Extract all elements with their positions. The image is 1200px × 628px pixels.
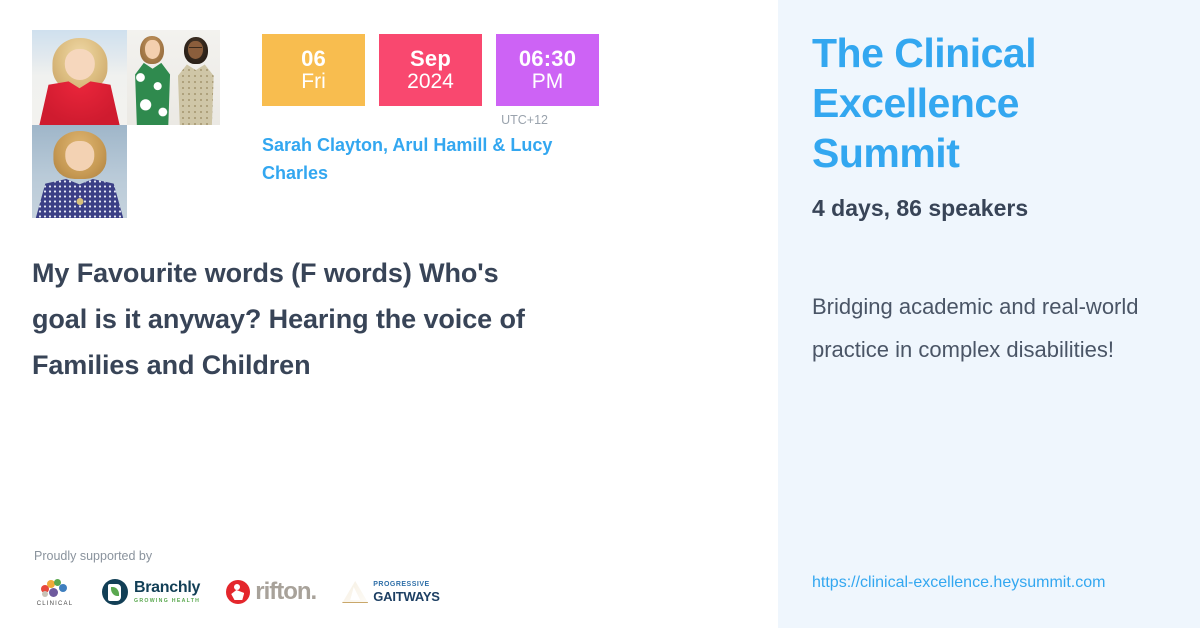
- gaitways-line-one: PROGRESSIVE: [373, 581, 440, 588]
- date-time-badges: 06 Fri Sep 2024 06:30 PM: [262, 34, 746, 106]
- face-shape: [145, 40, 160, 59]
- speaker-photo-arul-hamill-and-lucy-charles: [127, 30, 220, 125]
- speaker-names: Sarah Clayton, Arul Hamill & Lucy Charle…: [262, 132, 607, 188]
- sponsors-label: Proudly supported by: [34, 549, 440, 563]
- gaitways-line-two: GAITWAYS: [373, 590, 440, 603]
- sponsors-section: Proudly supported by CLINICAL Branchly G…: [34, 549, 440, 610]
- time-badge: 06:30 PM: [496, 34, 599, 106]
- rifton-person-icon: [226, 580, 250, 604]
- month-year: 2024: [407, 71, 454, 92]
- speaker-photo-sarah-clayton: [32, 30, 127, 125]
- summit-info-panel: The Clinical Excellence Summit 4 days, 8…: [778, 0, 1200, 628]
- glasses-shape: [189, 47, 202, 51]
- branchly-tagline: GROWING HEALTH: [134, 599, 200, 604]
- sponsor-logo-rifton: rifton.: [226, 574, 316, 610]
- summit-subtitle: 4 days, 86 speakers: [812, 195, 1170, 222]
- timezone-label: UTC+12: [262, 113, 592, 127]
- photo-grid-empty-cell: [127, 125, 220, 218]
- event-details-panel: 06 Fri Sep 2024 06:30 PM UTC+12 Sarah Cl…: [0, 0, 778, 628]
- event-promo-card: 06 Fri Sep 2024 06:30 PM UTC+12 Sarah Cl…: [0, 0, 1200, 628]
- clinical-emblem-icon: [40, 578, 70, 599]
- face-shape: [64, 49, 94, 80]
- clinical-caption: CLINICAL: [37, 601, 74, 607]
- sponsor-logo-clinical: CLINICAL: [34, 574, 76, 610]
- rifton-wordmark: rifton.: [255, 578, 316, 606]
- branchly-leaf-icon: [102, 579, 128, 605]
- sponsor-logo-progressive-gaitways: PROGRESSIVE GAITWAYS: [342, 574, 440, 610]
- branchly-wordmark: Branchly: [134, 580, 200, 596]
- session-title: My Favourite words (F words) Who's goal …: [32, 251, 552, 389]
- dress-shape: [174, 55, 219, 125]
- summit-url-link[interactable]: https://clinical-excellence.heysummit.co…: [812, 574, 1105, 592]
- date-weekday: Fri: [301, 71, 326, 92]
- date-badge: 06 Fri: [262, 34, 365, 106]
- month-name: Sep: [410, 48, 451, 70]
- necklace-shape: [76, 198, 83, 205]
- month-badge: Sep 2024: [379, 34, 482, 106]
- event-header-row: 06 Fri Sep 2024 06:30 PM UTC+12 Sarah Cl…: [32, 30, 746, 218]
- summit-description: Bridging academic and real-world practic…: [812, 286, 1170, 372]
- time-meridiem: PM: [532, 71, 564, 92]
- event-meta: 06 Fri Sep 2024 06:30 PM UTC+12 Sarah Cl…: [262, 30, 746, 188]
- date-day: 06: [301, 48, 326, 70]
- speaker-photo-third: [32, 125, 127, 218]
- face-shape: [65, 141, 94, 171]
- sponsor-logo-row: CLINICAL Branchly GROWING HEALTH rifton.: [34, 574, 440, 610]
- speaker-photo-grid: [32, 30, 220, 218]
- time-clock: 06:30: [519, 48, 576, 70]
- sponsor-logo-branchly: Branchly GROWING HEALTH: [102, 574, 200, 610]
- gaitways-triangle-icon: [342, 581, 368, 603]
- summit-title: The Clinical Excellence Summit: [812, 28, 1170, 178]
